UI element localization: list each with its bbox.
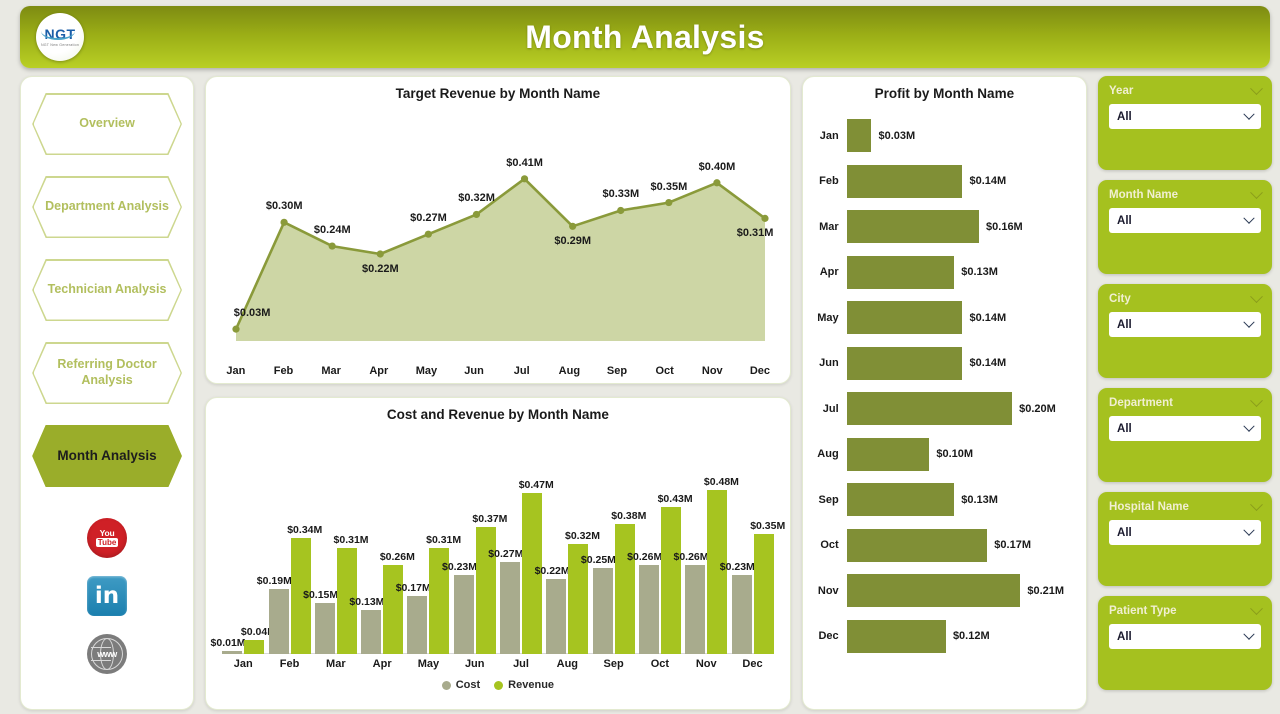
cost-bar[interactable]: $0.26M [685, 565, 705, 654]
bar-group: $0.19M$0.34M [266, 422, 312, 654]
bar-value-label: $0.23M [442, 561, 477, 573]
line-point-label: $0.30M [266, 200, 303, 212]
cost-bar[interactable]: $0.22M [546, 579, 566, 654]
slicer-value: All [1117, 631, 1132, 643]
bar-value-label: $0.01M [211, 637, 246, 649]
x-tick-label: Mar [307, 365, 355, 377]
cost-bar[interactable]: $0.19M [269, 589, 289, 654]
dashboard-page: NGT NGT New Generation Month Analysis Ov… [0, 0, 1280, 714]
bar-value-label: $0.19M [257, 575, 292, 587]
profit-bar[interactable] [847, 620, 946, 653]
cost-bar[interactable]: $0.17M [407, 596, 427, 654]
bar-group: $0.15M$0.31M [313, 422, 359, 654]
sidebar-item-label: Department Analysis [45, 199, 169, 215]
slicer-header: Patient Type [1109, 605, 1261, 617]
x-tick-label: Aug [544, 658, 590, 670]
profit-row: Jan$0.03M [809, 113, 1076, 159]
globe-line-top [91, 647, 111, 648]
chart-title: Profit by Month Name [803, 77, 1086, 101]
slicer-title: Patient Type [1109, 605, 1177, 617]
x-tick-label: Dec [729, 658, 775, 670]
x-tick-label: Dec [736, 365, 784, 377]
y-tick-label: Jun [809, 357, 847, 369]
profit-row: Mar$0.16M [809, 204, 1076, 250]
slicer-department[interactable]: Department All [1098, 388, 1272, 482]
profit-bar[interactable] [847, 301, 963, 334]
line-point-label: $0.29M [554, 235, 591, 247]
line-point-label: $0.22M [362, 263, 399, 275]
bar-value-label: $0.15M [303, 589, 338, 601]
slicer-title: Hospital Name [1109, 501, 1189, 513]
bar-value-label: $0.23M [720, 561, 755, 573]
x-tick-label: Jul [498, 365, 546, 377]
line-point-label: $0.27M [410, 212, 447, 224]
slicer-header: Hospital Name [1109, 501, 1261, 513]
profit-bar[interactable] [847, 347, 963, 380]
revenue-bar[interactable]: $0.04M [244, 640, 264, 654]
chevron-down-icon[interactable] [1250, 82, 1263, 95]
line-point-label: $0.40M [699, 161, 736, 173]
cost-revenue-chart: Cost and Revenue by Month Name $0.01M$0.… [205, 397, 791, 710]
revenue-bar[interactable]: $0.37M [476, 527, 496, 654]
cost-bar[interactable]: $0.23M [454, 575, 474, 654]
x-tick-label: Feb [260, 365, 308, 377]
bar-value-label: $0.35M [750, 520, 785, 532]
bar-value-label: $0.26M [673, 551, 708, 563]
legend-swatch [442, 681, 451, 690]
website-icon[interactable]: www [87, 634, 127, 674]
line-data-point[interactable] [232, 326, 239, 333]
bar-group: $0.13M$0.26M [359, 422, 405, 654]
sidebar-item-technician-analysis[interactable]: Technician Analysis [32, 259, 182, 321]
profit-bar[interactable] [847, 119, 872, 152]
sidebar-item-overview[interactable]: Overview [32, 93, 182, 155]
bar-group: $0.01M$0.04M [220, 422, 266, 654]
x-tick-label: Jun [452, 658, 498, 670]
slicer-header: Month Name [1109, 189, 1261, 201]
slicer-value: All [1117, 527, 1132, 539]
x-tick-label: Aug [546, 365, 594, 377]
slicer-header: City [1109, 293, 1261, 305]
slicer-dropdown[interactable]: All [1109, 104, 1261, 129]
slicer-title: Year [1109, 85, 1133, 97]
x-tick-label: May [405, 658, 451, 670]
slicer-title: Department [1109, 397, 1173, 409]
slicer-value: All [1117, 215, 1132, 227]
slicer-title: Month Name [1109, 189, 1178, 201]
chevron-down-icon[interactable] [1250, 290, 1263, 303]
chart-title: Cost and Revenue by Month Name [206, 398, 790, 422]
target-revenue-chart: Target Revenue by Month Name $0.03M$0.30… [205, 76, 791, 384]
x-tick-label: Jun [450, 365, 498, 377]
chevron-down-icon [1243, 628, 1254, 639]
chevron-down-icon [1243, 420, 1254, 431]
revenue-bar[interactable]: $0.38M [615, 524, 635, 654]
cost-bar[interactable]: $0.23M [732, 575, 752, 654]
line-data-point[interactable] [281, 219, 288, 226]
profit-value-label: $0.03M [878, 130, 915, 142]
sidebar-item-label: Month Analysis [57, 448, 156, 465]
cost-bar[interactable]: $0.13M [361, 610, 381, 655]
sidebar-item-label: Technician Analysis [48, 282, 167, 298]
x-tick-label: Feb [266, 658, 312, 670]
line-data-point[interactable] [569, 223, 576, 230]
profit-bar[interactable] [847, 483, 955, 516]
x-tick-label: Jan [212, 365, 260, 377]
page-title: Month Analysis [525, 19, 764, 56]
y-tick-label: Sep [809, 494, 847, 506]
line-data-point[interactable] [617, 207, 624, 214]
profit-value-label: $0.10M [936, 448, 973, 460]
slicer-dropdown[interactable]: All [1109, 208, 1261, 233]
y-tick-label: May [809, 312, 847, 324]
line-data-point[interactable] [761, 215, 768, 222]
x-tick-label: Jan [220, 658, 266, 670]
profit-value-label: $0.13M [961, 266, 998, 278]
slicer-dropdown[interactable]: All [1109, 520, 1261, 545]
bar-group: $0.26M$0.48M [683, 422, 729, 654]
bar-group: $0.17M$0.31M [405, 422, 451, 654]
profit-row: Sep$0.13M [809, 477, 1076, 523]
line-point-label: $0.35M [651, 181, 688, 193]
legend-item-cost[interactable]: Cost [442, 679, 480, 691]
profit-row: Aug$0.10M [809, 432, 1076, 478]
x-tick-label: Apr [359, 658, 405, 670]
linkedin-glyph: in [95, 583, 119, 609]
revenue-bar[interactable]: $0.43M [661, 507, 681, 654]
filter-panel: Year All Month Name All [1098, 76, 1272, 710]
slicer-month-name[interactable]: Month Name All [1098, 180, 1272, 274]
slicer-value: All [1117, 319, 1132, 331]
y-tick-label: Nov [809, 585, 847, 597]
line-point-label: $0.32M [458, 192, 495, 204]
linkedin-icon[interactable]: in [87, 576, 127, 616]
profit-bar[interactable] [847, 438, 930, 471]
revenue-bar[interactable]: $0.35M [754, 534, 774, 654]
profit-bar[interactable] [847, 210, 979, 243]
sidebar-item-month-analysis[interactable]: Month Analysis [32, 425, 182, 487]
legend-label: Cost [456, 679, 480, 691]
slicer-value: All [1117, 111, 1132, 123]
chevron-down-icon[interactable] [1250, 186, 1263, 199]
line-chart-svg [206, 101, 791, 353]
x-tick-label: Nov [688, 365, 736, 377]
profit-bar[interactable] [847, 256, 955, 289]
sidebar-item-label: Overview [79, 116, 135, 132]
sidebar-item-label: Referring Doctor Analysis [32, 357, 182, 388]
globe-line-bottom [91, 660, 111, 661]
slicer-hospital-name[interactable]: Hospital Name All [1098, 492, 1272, 586]
social-links: You Tube in www [87, 518, 127, 674]
chart-title: Target Revenue by Month Name [206, 77, 790, 101]
company-logo: NGT NGT New Generation [36, 13, 84, 61]
bar-value-label: $0.22M [535, 565, 570, 577]
bar-x-axis: JanFebMarAprMayJunJulAugSepOctNovDec [220, 658, 776, 670]
x-tick-label: Oct [641, 365, 689, 377]
profit-chart: Profit by Month Name Jan$0.03MFeb$0.14MM… [802, 76, 1087, 710]
bar-value-label: $0.27M [488, 548, 523, 560]
legend-label: Revenue [508, 679, 554, 691]
y-tick-label: Apr [809, 266, 847, 278]
website-glyph: www [97, 649, 117, 659]
bar-group: $0.25M$0.38M [590, 422, 636, 654]
x-tick-label: Oct [637, 658, 683, 670]
bar-plot-area: $0.01M$0.04M$0.19M$0.34M$0.15M$0.31M$0.1… [220, 422, 776, 654]
cost-bar[interactable]: $0.27M [500, 562, 520, 654]
profit-value-label: $0.13M [961, 494, 998, 506]
y-tick-label: Jan [809, 130, 847, 142]
profit-rows: Jan$0.03MFeb$0.14MMar$0.16MApr$0.13MMay$… [803, 101, 1086, 667]
y-tick-label: Oct [809, 539, 847, 551]
profit-value-label: $0.14M [969, 357, 1006, 369]
line-plot-area: $0.03M$0.30M$0.24M$0.22M$0.27M$0.32M$0.4… [206, 101, 790, 353]
logo-tagline: NGT New Generation [41, 43, 79, 47]
profit-row: Apr$0.13M [809, 250, 1076, 296]
cost-bar[interactable]: $0.26M [639, 565, 659, 654]
bar-group: $0.22M$0.32M [544, 422, 590, 654]
line-data-point[interactable] [377, 250, 384, 257]
bar-value-label: $0.26M [627, 551, 662, 563]
profit-row: Jun$0.14M [809, 341, 1076, 387]
chevron-down-icon[interactable] [1250, 394, 1263, 407]
profit-row: Oct$0.17M [809, 523, 1076, 569]
line-point-label: $0.33M [602, 188, 639, 200]
line-point-label: $0.31M [737, 227, 774, 239]
bar-value-label: $0.17M [396, 582, 431, 594]
chevron-down-icon [1243, 316, 1254, 327]
slicer-dropdown[interactable]: All [1109, 312, 1261, 337]
legend-swatch [494, 681, 503, 690]
profit-value-label: $0.17M [994, 539, 1031, 551]
profit-value-label: $0.14M [969, 312, 1006, 324]
chevron-down-icon[interactable] [1250, 602, 1263, 615]
y-tick-label: Feb [809, 175, 847, 187]
slicer-header: Department [1109, 397, 1261, 409]
line-data-point[interactable] [521, 175, 528, 182]
x-tick-label: May [403, 365, 451, 377]
chevron-down-icon[interactable] [1250, 498, 1263, 511]
cost-bar[interactable]: $0.01M [222, 651, 242, 654]
profit-value-label: $0.12M [953, 630, 990, 642]
y-tick-label: Aug [809, 448, 847, 460]
chevron-down-icon [1243, 524, 1254, 535]
center-column: Target Revenue by Month Name $0.03M$0.30… [205, 76, 791, 710]
bar-group: $0.26M$0.43M [637, 422, 683, 654]
chevron-down-icon [1243, 212, 1254, 223]
line-data-point[interactable] [473, 211, 480, 218]
slicer-value: All [1117, 423, 1132, 435]
line-point-label: $0.24M [314, 224, 351, 236]
profit-bar[interactable] [847, 165, 963, 198]
line-data-point[interactable] [425, 231, 432, 238]
chevron-down-icon [1243, 108, 1254, 119]
profit-row: May$0.14M [809, 295, 1076, 341]
profit-row: Nov$0.21M [809, 568, 1076, 614]
profit-value-label: $0.14M [969, 175, 1006, 187]
profit-value-label: $0.16M [986, 221, 1023, 233]
bar-group: $0.23M$0.37M [452, 422, 498, 654]
line-data-point[interactable] [329, 242, 336, 249]
profit-bar[interactable] [847, 529, 988, 562]
slicer-dropdown[interactable]: All [1109, 624, 1261, 649]
x-tick-label: Sep [590, 658, 636, 670]
x-tick-label: Nov [683, 658, 729, 670]
y-tick-label: Jul [809, 403, 847, 415]
chart-legend: CostRevenue [206, 679, 790, 691]
profit-row: Dec$0.12M [809, 614, 1076, 660]
y-tick-label: Mar [809, 221, 847, 233]
profit-row: Jul$0.20M [809, 386, 1076, 432]
slicer-year[interactable]: Year All [1098, 76, 1272, 170]
sidebar-item-department-analysis[interactable]: Department Analysis [32, 176, 182, 238]
sidebar-nav: Overview Department Analysis Technician … [20, 76, 194, 710]
line-data-point[interactable] [665, 199, 672, 206]
profit-row: Feb$0.14M [809, 159, 1076, 205]
y-tick-label: Dec [809, 630, 847, 642]
youtube-line1: You [100, 529, 115, 538]
profit-value-label: $0.21M [1027, 585, 1064, 597]
line-x-axis: JanFebMarAprMayJunJulAugSepOctNovDec [206, 365, 790, 377]
slicer-dropdown[interactable]: All [1109, 416, 1261, 441]
slicer-patient-type[interactable]: Patient Type All [1098, 596, 1272, 690]
bar-value-label: $0.13M [349, 596, 384, 608]
profit-value-label: $0.20M [1019, 403, 1056, 415]
youtube-icon[interactable]: You Tube [87, 518, 127, 558]
x-tick-label: Apr [355, 365, 403, 377]
line-point-label: $0.03M [234, 307, 271, 319]
slicer-header: Year [1109, 85, 1261, 97]
profit-bar[interactable] [847, 392, 1012, 425]
bar-group: $0.23M$0.35M [729, 422, 775, 654]
revenue-bar[interactable]: $0.26M [383, 565, 403, 654]
youtube-line2: Tube [96, 538, 119, 547]
x-tick-label: Jul [498, 658, 544, 670]
slicer-city[interactable]: City All [1098, 284, 1272, 378]
sidebar-item-referring-doctor-analysis[interactable]: Referring Doctor Analysis [32, 342, 182, 404]
x-tick-label: Sep [593, 365, 641, 377]
logo-text: NGT [44, 27, 75, 41]
x-tick-label: Mar [313, 658, 359, 670]
bar-value-label: $0.25M [581, 554, 616, 566]
line-data-point[interactable] [713, 179, 720, 186]
legend-item-revenue[interactable]: Revenue [494, 679, 554, 691]
slicer-title: City [1109, 293, 1131, 305]
page-header: NGT NGT New Generation Month Analysis [20, 6, 1270, 68]
bar-group: $0.27M$0.47M [498, 422, 544, 654]
line-point-label: $0.41M [506, 157, 543, 169]
cost-bar[interactable]: $0.25M [593, 568, 613, 654]
profit-bar[interactable] [847, 574, 1021, 607]
cost-bar[interactable]: $0.15M [315, 603, 335, 654]
